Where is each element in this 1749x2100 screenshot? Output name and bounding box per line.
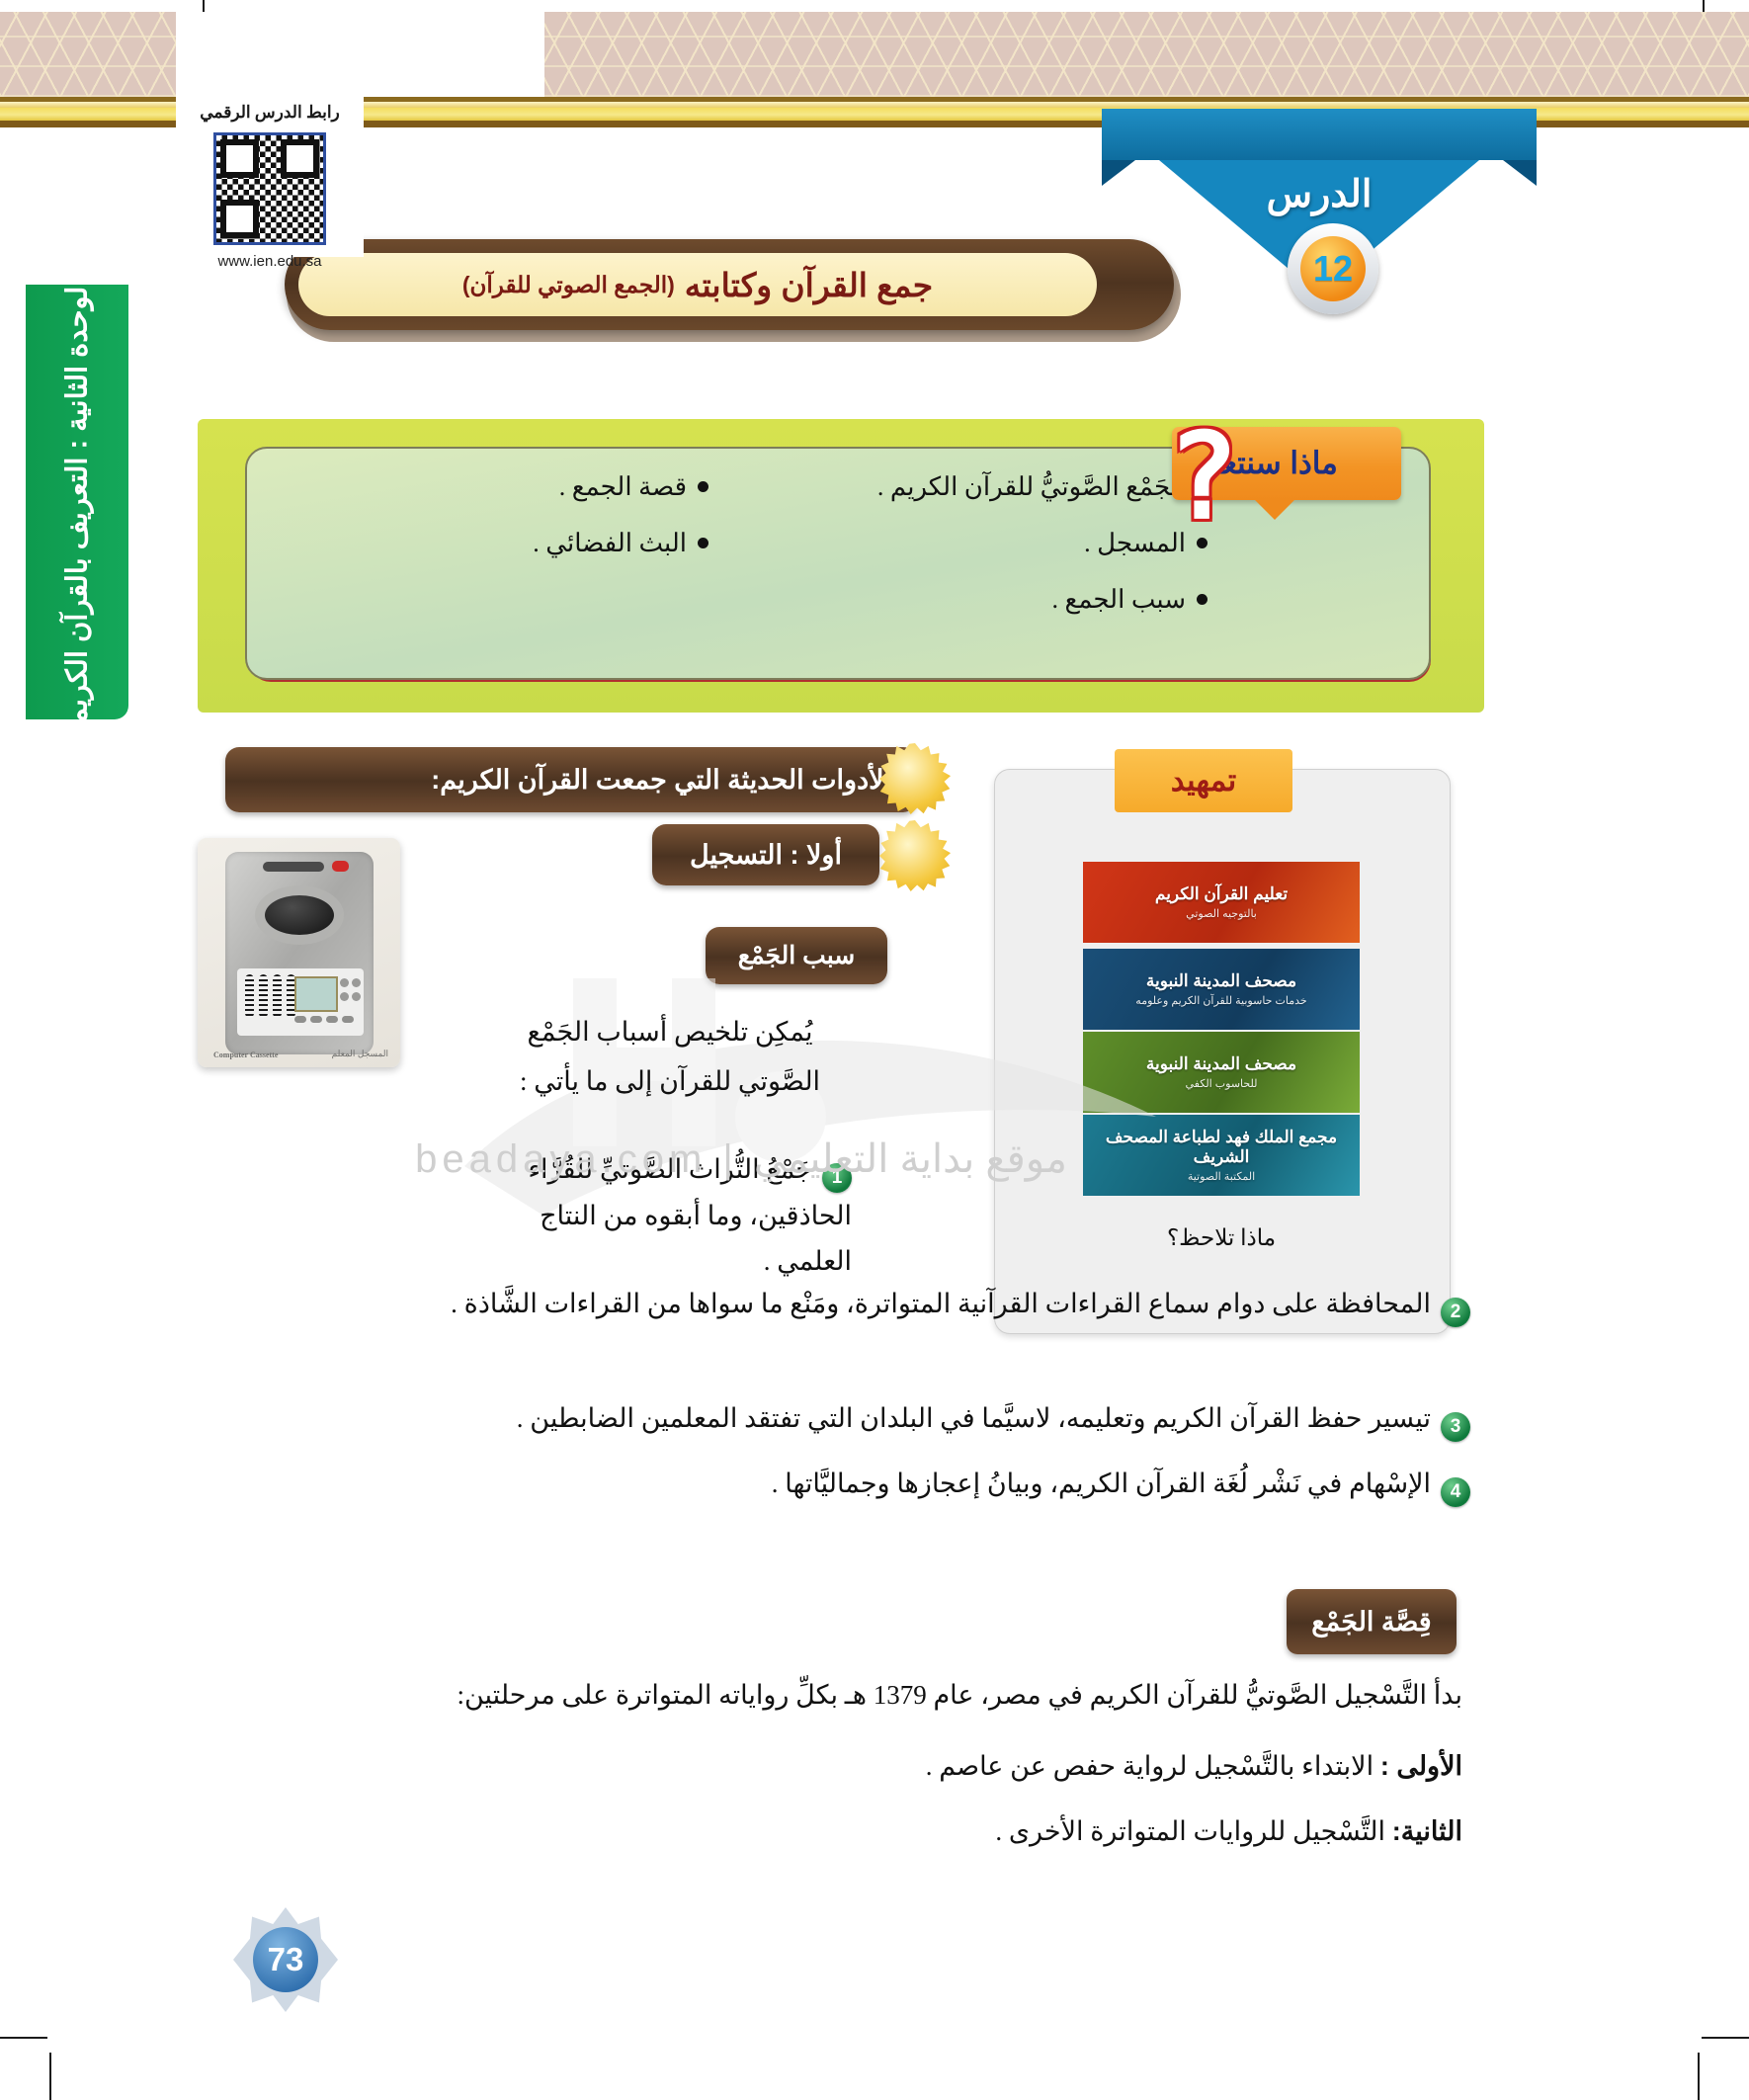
starburst-icon <box>879 820 951 891</box>
first-tool-label: أولا : التسجيل <box>690 840 842 871</box>
qr-card-title: رابط الدرس الرقمي <box>176 103 364 123</box>
page-number-value: 73 <box>253 1927 318 1992</box>
ribbon-bar <box>1102 109 1537 160</box>
crop-mark-left-bottom <box>49 2053 51 2100</box>
keypad-icon <box>294 1016 306 1023</box>
objective-text: البث الفضائي . <box>533 529 687 557</box>
keypad-icon <box>342 1016 354 1023</box>
story-intro: بدأ التَّسْجيل الصَّوتيُّ للقرآن الكريم … <box>296 1680 1462 1711</box>
bullet-icon <box>698 481 708 492</box>
tamheed-badge-label: تمهيد <box>1171 763 1236 798</box>
device-caption-ar: المسجل المعلم <box>332 1049 388 1059</box>
stage-2-label: الثانية: <box>1392 1816 1462 1846</box>
control-button-icon <box>340 978 349 987</box>
objectives-column-right: الجَمْع الصَّوتيُّ للقرآن الكريم . المسج… <box>748 472 1247 660</box>
list-item: قصة الجمع . <box>289 472 708 502</box>
slider-icon <box>259 974 268 1018</box>
qr-code-image[interactable] <box>213 132 326 245</box>
tamheed-caption: ماذا تلاحظ؟ <box>994 1225 1449 1251</box>
stage-1-label: الأولى : <box>1380 1751 1462 1781</box>
banner-title: مصحف المدينة النبوية <box>1146 1054 1296 1073</box>
banner-subtitle: المكتبة الصوتية <box>1091 1170 1352 1183</box>
crop-mark-bottom-right <box>1702 2037 1749 2039</box>
list-item: 2المحافظة على دوام سماع القراءات القرآني… <box>156 1281 1470 1327</box>
list-item: الجَمْع الصَّوتيُّ للقرآن الكريم . <box>788 472 1208 502</box>
banner-title: مصحف المدينة النبوية <box>1146 971 1296 990</box>
lesson-label: الدرس <box>1102 172 1537 216</box>
list-item: سبب الجمع . <box>788 585 1208 615</box>
item-text: المحافظة على دوام سماع القراءات القرآنية… <box>451 1289 1431 1318</box>
lesson-ribbon: الدرس 12 <box>1102 77 1537 304</box>
objective-text: الجَمْع الصَّوتيُّ للقرآن الكريم . <box>877 472 1186 501</box>
lesson-number: 12 <box>1300 236 1366 301</box>
banner-subtitle: للحاسوب الكفي <box>1146 1077 1296 1090</box>
crop-mark-bottom-left <box>0 2037 47 2039</box>
lcd-screen <box>294 976 338 1012</box>
item-number-badge: 3 <box>1441 1412 1470 1442</box>
tamheed-banner-4: مجمع الملك فهد لطباعة المصحف الشريفالمكت… <box>1083 1115 1360 1196</box>
lesson-number-badge: 12 <box>1288 223 1378 314</box>
item-number-badge: 2 <box>1441 1298 1470 1327</box>
recorder-body <box>225 852 374 1054</box>
list-item: 4الإسْهام في نَشْر لُغَة القرآن الكريم، … <box>156 1461 1470 1507</box>
control-button-icon <box>340 992 349 1001</box>
bullet-icon <box>1197 594 1208 605</box>
recorder-top-bar <box>263 862 324 872</box>
tamheed-banner-1: تعليم القرآن الكريمبالتوجيه الصوتي <box>1083 862 1360 943</box>
keypad-icon <box>310 1016 322 1023</box>
story-stage-2: الثانية: التَّسْجيل للروايات المتواترة ا… <box>296 1816 1462 1847</box>
slider-icon <box>245 974 254 1018</box>
page-number: 73 <box>233 1907 338 2012</box>
crop-mark-right-bottom <box>1698 2053 1700 2100</box>
slider-icon <box>273 974 282 1018</box>
item-number-badge: 4 <box>1441 1477 1470 1507</box>
page-subtitle: (الجمع الصوتي للقرآن) <box>462 272 675 298</box>
unit-tab-label: الوحدة الثانية : التعريف بالقرآن الكريم <box>60 285 95 719</box>
qr-card-url: www.ien.edu.sa <box>176 253 364 270</box>
page-title: جمع القرآن وكتابته <box>685 266 933 304</box>
item-text: الإسْهام في نَشْر لُغَة القرآن الكريم، و… <box>772 1469 1431 1498</box>
objective-text: سبب الجمع . <box>1052 585 1186 614</box>
reason-intro-paragraph: يُمكِن تلخيص أسباب الجَمْع الصَّوتي للقر… <box>492 1008 848 1107</box>
unit-tab: الوحدة الثانية : التعريف بالقرآن الكريم <box>26 285 128 719</box>
banner-title: مجمع الملك فهد لطباعة المصحف الشريف <box>1106 1128 1337 1166</box>
story-section-header: قِصَّة الجَمْع <box>1287 1589 1457 1654</box>
lesson-title-inner: جمع القرآن وكتابته (الجمع الصوتي للقرآن) <box>298 253 1097 316</box>
reason-section-label: سبب الجَمْع <box>738 941 855 970</box>
list-item: البث الفضائي . <box>289 529 708 558</box>
reason-section-header: سبب الجَمْع <box>706 927 887 984</box>
recorder-control-panel <box>237 968 364 1036</box>
control-button-icon <box>352 992 361 1001</box>
cassette-recorder-photo: Computer Cassette المسجل المعلم <box>198 838 400 1067</box>
objective-text: قصة الجمع . <box>559 472 687 501</box>
badge-tail <box>1253 498 1296 520</box>
tamheed-banner-2: مصحف المدينة النبويةخدمات حاسوبية للقرآن… <box>1083 949 1360 1030</box>
control-button-icon <box>352 978 361 987</box>
record-button-icon <box>332 861 349 872</box>
story-stage-1: الأولى : الابتداء بالتَّسْجيل لرواية حفص… <box>296 1751 1462 1782</box>
banner-title: تعليم القرآن الكريم <box>1155 884 1288 903</box>
digital-lesson-link-card[interactable]: رابط الدرس الرقمي www.ien.edu.sa <box>176 12 364 257</box>
textbook-page: رابط الدرس الرقمي www.ien.edu.sa الدرس 1… <box>0 0 1749 2100</box>
objective-text: المسجل . <box>1084 529 1186 557</box>
list-item: 1جَمْعُ التُّراث الصَّوتيِّ للقُرَّاء ال… <box>492 1146 852 1285</box>
item-text: جَمْعُ التُّراث الصَّوتيِّ للقُرَّاء الح… <box>528 1154 852 1276</box>
keypad-icon <box>326 1016 338 1023</box>
bullet-icon <box>698 538 708 548</box>
banner-subtitle: بالتوجيه الصوتي <box>1155 907 1288 920</box>
cassette-window <box>265 895 334 935</box>
device-caption-en: Computer Cassette <box>213 1050 278 1059</box>
tamheed-banner-3: مصحف المدينة النبويةللحاسوب الكفي <box>1083 1032 1360 1113</box>
stage-1-text: الابتداء بالتَّسْجيل لرواية حفص عن عاصم … <box>926 1751 1374 1781</box>
list-item: 3تيسير حفظ القرآن الكريم وتعليمه، لاسيَّ… <box>156 1395 1470 1442</box>
objectives-column-left: قصة الجمع . البث الفضائي . <box>249 472 748 660</box>
question-mark-icon: ؟ <box>1174 419 1253 547</box>
tools-section-label: الأدوات الحديثة التي جمعت القرآن الكريم: <box>431 765 891 796</box>
story-section-label: قِصَّة الجَمْع <box>1311 1607 1431 1638</box>
learning-objectives-columns: الجَمْع الصَّوتيُّ للقرآن الكريم . المسج… <box>249 472 1247 660</box>
banner-subtitle: خدمات حاسوبية للقرآن الكريم وعلومه <box>1135 994 1306 1007</box>
item-text: تيسير حفظ القرآن الكريم وتعليمه، لاسيَّم… <box>517 1403 1431 1433</box>
item-number-badge: 1 <box>822 1163 852 1193</box>
stage-2-text: التَّسْجيل للروايات المتواترة الأخرى . <box>995 1816 1385 1846</box>
tamheed-badge: تمهيد <box>1115 749 1292 812</box>
tools-section-header: الأدوات الحديثة التي جمعت القرآن الكريم: <box>225 747 917 812</box>
first-tool-header: أولا : التسجيل <box>652 824 879 885</box>
list-item: المسجل . <box>788 529 1208 558</box>
